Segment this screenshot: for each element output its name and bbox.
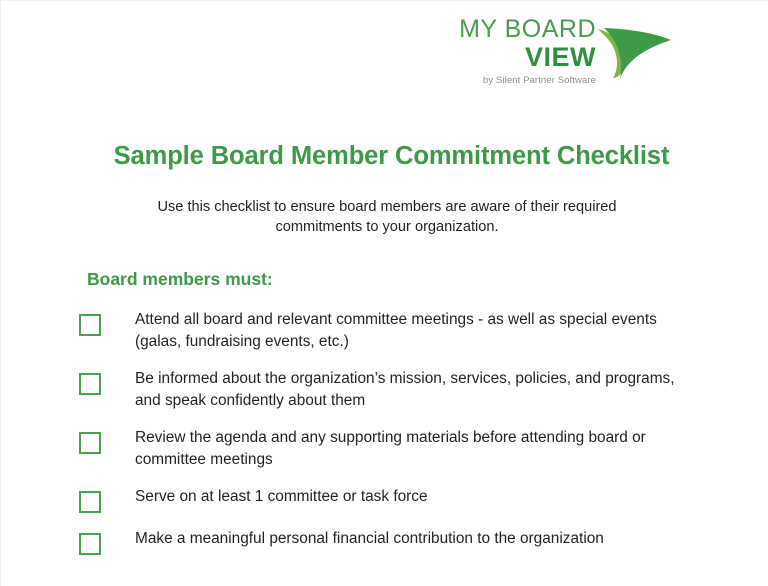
logo-wordmark: MY BOARD VIEW by Silent Partner Software (446, 15, 596, 87)
section-heading: Board members must: (87, 269, 273, 290)
document-page: MY BOARD VIEW by Silent Partner Software… (0, 0, 768, 586)
logo-line-view: VIEW (446, 43, 596, 72)
page-title: Sample Board Member Commitment Checklist (1, 142, 768, 171)
logo-line-my-board: MY BOARD (446, 15, 596, 43)
list-item-label: Make a meaningful personal financial con… (135, 528, 604, 550)
logo-tagline: by Silent Partner Software (446, 75, 596, 87)
checklist: Attend all board and relevant committee … (79, 309, 708, 555)
list-item[interactable]: Be informed about the organization’s mis… (79, 368, 708, 412)
checkbox-icon[interactable] (79, 491, 101, 513)
checkbox-icon[interactable] (79, 314, 101, 336)
list-item-label: Serve on at least 1 committee or task fo… (135, 486, 428, 508)
list-item-label: Be informed about the organization’s mis… (135, 368, 695, 412)
list-item[interactable]: Make a meaningful personal financial con… (79, 528, 708, 555)
brand-logo: MY BOARD VIEW by Silent Partner Software (456, 15, 672, 87)
list-item-label: Attend all board and relevant committee … (135, 309, 695, 353)
checkbox-icon[interactable] (79, 373, 101, 395)
list-item-label: Review the agenda and any supporting mat… (135, 427, 695, 471)
checkbox-icon[interactable] (79, 432, 101, 454)
list-item[interactable]: Review the agenda and any supporting mat… (79, 427, 708, 471)
page-subtitle: Use this checklist to ensure board membe… (125, 197, 649, 237)
arrow-swoosh-icon (596, 23, 672, 79)
list-item[interactable]: Serve on at least 1 committee or task fo… (79, 486, 708, 513)
list-item[interactable]: Attend all board and relevant committee … (79, 309, 708, 353)
checkbox-icon[interactable] (79, 533, 101, 555)
